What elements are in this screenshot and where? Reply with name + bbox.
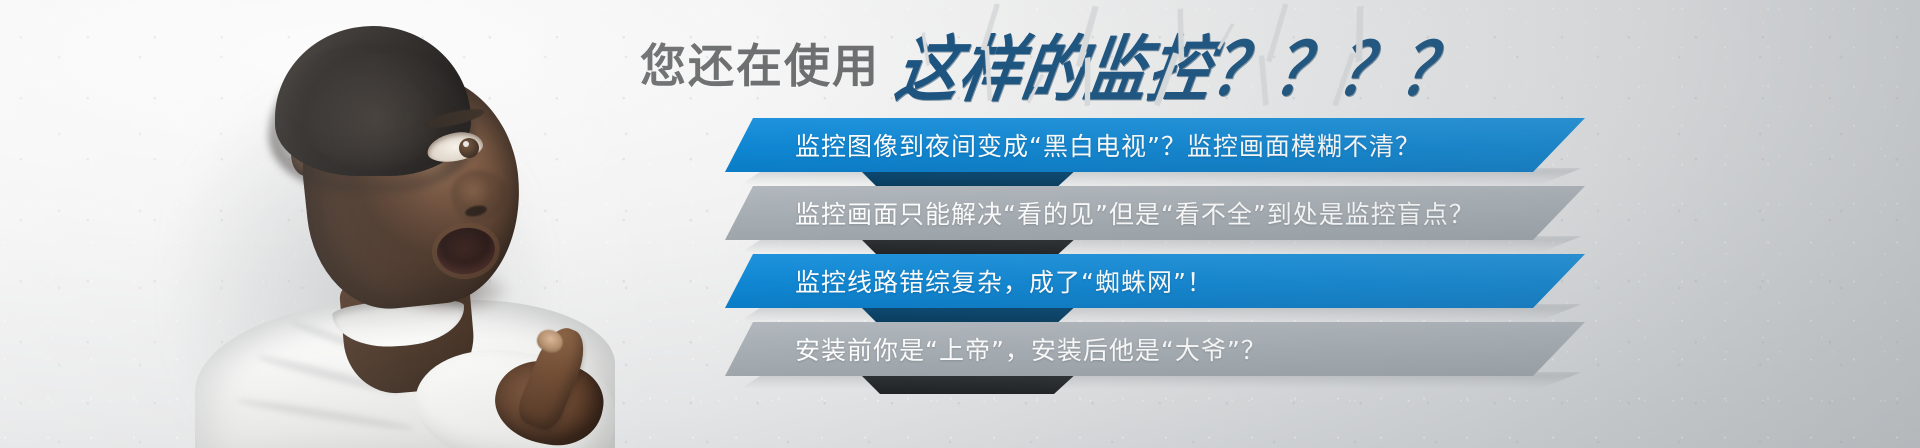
headline-stylized-label: 这样的监控？？？？ (890, 31, 1470, 111)
message-bar-list: 监控图像到夜间变成“黑白电视”？监控画面模糊不清？ 监控画面只能解决“看的见”但… (0, 118, 1920, 388)
bar-label: 监控画面只能解决“看的见”但是“看不全”到处是监控盲点？ (795, 186, 1475, 240)
promotional-banner: 您还在使用 这样的监控？？？？ 监控图像到夜间变成“黑白电视”？监控画面模糊不清… (0, 0, 1920, 448)
bar-label: 安装前你是“上帝”，安装后他是“大爷”？ (795, 322, 1267, 376)
headline-stylized-text: 这样的监控？？？？ (890, 11, 1474, 115)
bar-label: 监控线路错综复杂，成了“蜘蛛网”！ (795, 254, 1213, 308)
bar-label: 监控图像到夜间变成“黑白电视”？监控画面模糊不清？ (795, 118, 1421, 172)
headline-plain-text: 您还在使用 (640, 30, 880, 96)
message-bar-2[interactable]: 监控画面只能解决“看的见”但是“看不全”到处是监控盲点？ (0, 186, 1920, 248)
message-bar-3[interactable]: 监控线路错综复杂，成了“蜘蛛网”！ (0, 254, 1920, 316)
message-bar-1[interactable]: 监控图像到夜间变成“黑白电视”？监控画面模糊不清？ (0, 118, 1920, 180)
headline: 您还在使用 这样的监控？？？？ (640, 24, 1465, 102)
message-bar-4[interactable]: 安装前你是“上帝”，安装后他是“大爷”？ (0, 322, 1920, 384)
